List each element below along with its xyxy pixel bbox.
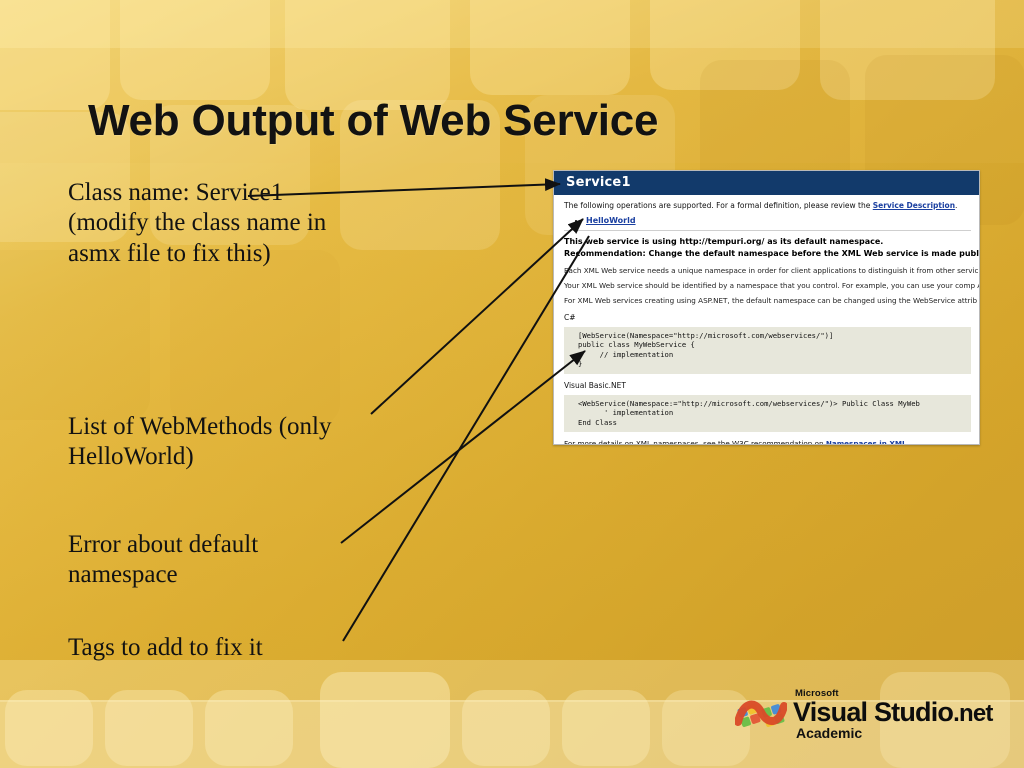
- namespace-recommendation: Recommendation: Change the default names…: [564, 248, 971, 260]
- logo-edition: Academic: [796, 726, 1003, 741]
- w3c-footer-suffix: .: [907, 439, 909, 445]
- arrow-to-helloworld: [371, 219, 583, 414]
- service-description-link[interactable]: Service Description: [873, 201, 955, 210]
- page-title: Web Output of Web Service: [88, 98, 938, 144]
- slide-canvas: Web Output of Web Service Class name: Se…: [0, 0, 1024, 768]
- namespaces-in-xml-link[interactable]: Namespaces in XML: [826, 439, 907, 445]
- background-shape: [170, 250, 340, 425]
- list-item: HelloWorld: [586, 215, 971, 226]
- background-shape: [0, 250, 150, 420]
- visual-studio-net-logo: Microsoft Visual Studio.net Academic: [735, 688, 1000, 750]
- callout-namespace-error: Error about default namespace: [68, 530, 358, 591]
- callout-class-name: Class name: Service1 (modify the class n…: [68, 178, 330, 269]
- default-namespace-notice: This web service is using http://tempuri…: [564, 236, 971, 248]
- operations-intro-suffix: .: [955, 201, 957, 210]
- operations-intro-prefix: The following operations are supported. …: [564, 201, 873, 210]
- operations-intro: The following operations are supported. …: [564, 201, 971, 211]
- arrow-to-code-block: [341, 351, 585, 543]
- divider: [564, 230, 971, 231]
- logo-text-block: Microsoft Visual Studio.net Academic: [793, 688, 1003, 741]
- visual-studio-infinity-icon: [735, 694, 787, 734]
- w3c-footer: For more details on XML namespaces, see …: [564, 439, 971, 445]
- logo-product-name: Visual Studio.net: [793, 699, 1003, 726]
- service-header-title: Service1: [554, 171, 979, 195]
- csharp-label: C#: [564, 313, 971, 322]
- vb-code-block: <WebService(Namespace:="http://microsoft…: [564, 395, 971, 433]
- csharp-code-block: [WebService(Namespace="http://microsoft.…: [564, 327, 971, 374]
- web-service-screenshot: Service1 The following operations are su…: [553, 170, 980, 445]
- namespace-paragraph: Each XML Web service needs a unique name…: [564, 266, 971, 275]
- service-page-body: The following operations are supported. …: [554, 195, 979, 445]
- background-band-top: [0, 0, 1024, 48]
- operation-link-helloworld[interactable]: HelloWorld: [586, 216, 636, 225]
- callout-tags-fix: Tags to add to fix it: [68, 633, 368, 663]
- callout-webmethods: List of WebMethods (only HelloWorld): [68, 412, 368, 473]
- namespace-paragraph: Your XML Web service should be identifie…: [564, 281, 971, 290]
- logo-dotnet: .net: [953, 700, 992, 727]
- vb-label: Visual Basic.NET: [564, 381, 971, 390]
- w3c-footer-prefix: For more details on XML namespaces, see …: [564, 439, 826, 445]
- namespace-paragraph: For XML Web services creating using ASP.…: [564, 296, 971, 305]
- operations-list: HelloWorld: [564, 215, 971, 226]
- logo-product: Visual Studio: [793, 697, 953, 727]
